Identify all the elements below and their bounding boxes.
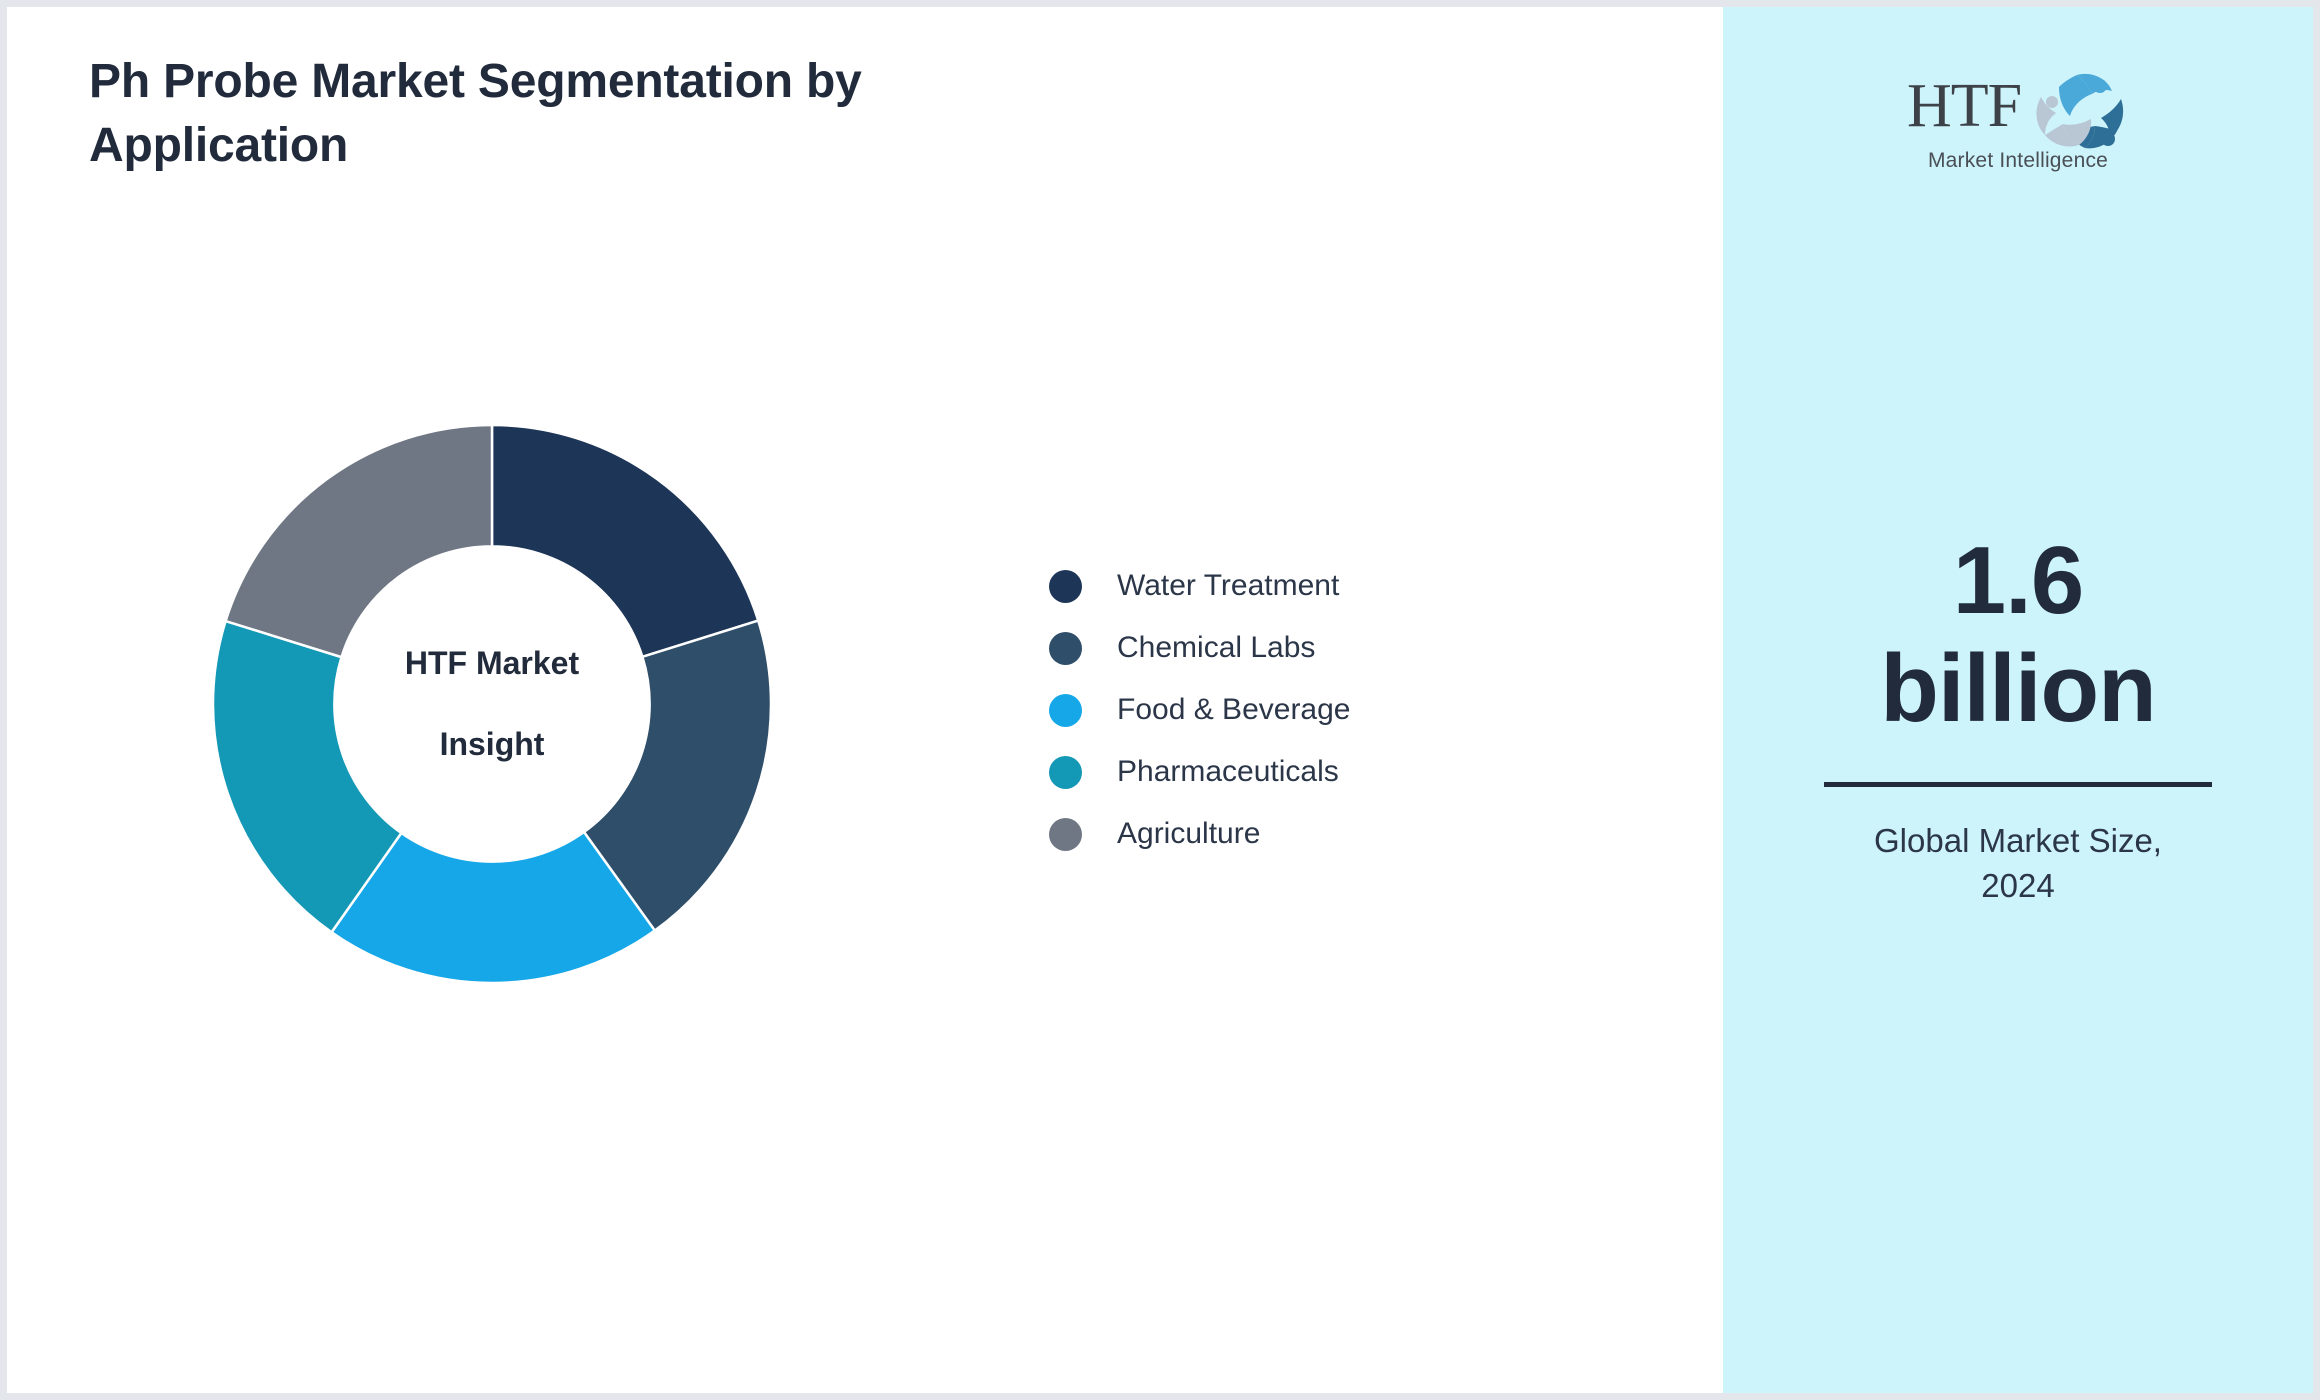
stat-divider — [1824, 782, 2212, 787]
donut-chart: HTF Market Insight — [213, 425, 771, 983]
infographic-canvas: Ph Probe Market Segmentation by Applicat… — [0, 0, 2320, 1400]
stat-value-line-1: 1.6 — [1798, 527, 2238, 635]
logo-mark-row: HTF — [1903, 69, 2133, 155]
legend-swatch-icon — [1049, 818, 1082, 851]
legend-item-label: Pharmaceuticals — [1117, 755, 1339, 789]
legend-item-agriculture[interactable]: Agriculture — [1049, 803, 1350, 865]
htf-logo: HTF Market Intelligence — [1903, 69, 2133, 173]
legend-swatch-icon — [1049, 756, 1082, 789]
legend-item-label: Food & Beverage — [1117, 693, 1350, 727]
legend-item-label: Agriculture — [1117, 817, 1260, 851]
market-size-stat: 1.6 billion Global Market Size, 2024 — [1798, 527, 2238, 908]
legend-item-water-treatment[interactable]: Water Treatment — [1049, 555, 1350, 617]
stat-value: 1.6 billion — [1798, 527, 2238, 742]
stat-value-line-2: billion — [1798, 635, 2238, 743]
donut-chart-svg — [213, 425, 771, 983]
stat-caption-line-2: 2024 — [1798, 864, 2238, 909]
stat-panel: HTF Market Intelligence — [1723, 7, 2313, 1393]
legend-swatch-icon — [1049, 694, 1082, 727]
donut-slice-water-treatment[interactable] — [492, 425, 758, 657]
chart-panel: Ph Probe Market Segmentation by Applicat… — [7, 7, 1723, 1393]
legend-item-label: Water Treatment — [1117, 569, 1339, 603]
legend-item-pharmaceuticals[interactable]: Pharmaceuticals — [1049, 741, 1350, 803]
stat-caption: Global Market Size, 2024 — [1798, 819, 2238, 908]
logo-wordmark: HTF — [1907, 75, 2021, 137]
donut-slice-agriculture[interactable] — [226, 425, 492, 657]
legend-item-chemical-labs[interactable]: Chemical Labs — [1049, 617, 1350, 679]
stat-caption-line-1: Global Market Size, — [1798, 819, 2238, 864]
page-title: Ph Probe Market Segmentation by Applicat… — [89, 50, 1049, 179]
legend-swatch-icon — [1049, 570, 1082, 603]
legend-item-food-and-beverage[interactable]: Food & Beverage — [1049, 679, 1350, 741]
legend-item-label: Chemical Labs — [1117, 631, 1315, 665]
three-people-circle-icon — [2029, 69, 2129, 155]
chart-legend: Water Treatment Chemical Labs Food & Bev… — [1049, 555, 1350, 865]
legend-swatch-icon — [1049, 632, 1082, 665]
